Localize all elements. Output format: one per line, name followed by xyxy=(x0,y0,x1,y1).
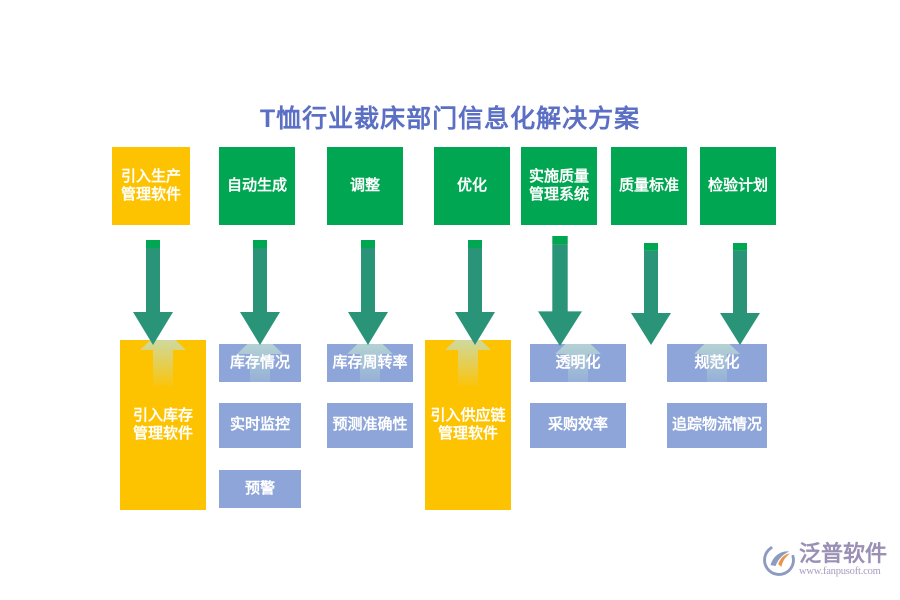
flow-arrow-down-icon-4 xyxy=(455,240,495,345)
process-box-1: 引入生产 管理软件 xyxy=(112,147,190,225)
box-label: 追踪物流情况 xyxy=(672,416,762,434)
box-label: 透明化 xyxy=(555,354,600,372)
flow-arrow-down-icon-1 xyxy=(133,240,173,345)
box-label: 规范化 xyxy=(694,354,739,372)
box-label: 检验计划 xyxy=(708,177,768,195)
outcome-box-9: 追踪物流情况 xyxy=(667,403,767,448)
software-pillar-1: 引入库存 管理软件 xyxy=(120,340,206,510)
outcome-box-5: 预测准确性 xyxy=(327,403,413,448)
flow-arrow-down-icon-5 xyxy=(538,236,582,346)
flow-arrow-down-icon-3 xyxy=(348,240,388,345)
flow-arrow-down-icon-2 xyxy=(240,240,280,345)
box-label: 自动生成 xyxy=(227,177,287,195)
software-pillar-2: 引入供应链 管理软件 xyxy=(425,340,511,510)
box-label: 引入生产 管理软件 xyxy=(121,168,181,205)
outcome-box-1: 库存情况 xyxy=(219,344,301,382)
brand-logo: 泛普软件 www.fanpusoft.com xyxy=(762,534,894,586)
box-label: 实施质量 管理系统 xyxy=(529,168,589,205)
box-label: 库存情况 xyxy=(230,354,290,372)
page-title: T恤行业裁床部门信息化解决方案 xyxy=(0,99,900,135)
box-label: 采购效率 xyxy=(548,416,608,434)
outcome-box-2: 实时监控 xyxy=(219,403,301,448)
box-label: 调整 xyxy=(350,177,380,195)
up-arrow-watermark-icon xyxy=(140,340,186,386)
box-label: 预测准确性 xyxy=(332,416,407,434)
process-box-2: 自动生成 xyxy=(219,147,295,225)
outcome-box-6: 透明化 xyxy=(530,344,626,382)
flow-arrow-down-icon-7 xyxy=(720,243,760,345)
box-label: 库存周转率 xyxy=(332,354,407,372)
box-label: 质量标准 xyxy=(619,177,679,195)
box-label: 优化 xyxy=(457,177,487,195)
fanpu-logo-icon xyxy=(762,543,796,577)
logo-company-name: 泛普软件 xyxy=(799,542,887,565)
box-label: 预警 xyxy=(245,480,275,498)
outcome-box-7: 采购效率 xyxy=(530,403,626,448)
diagram-canvas: T恤行业裁床部门信息化解决方案 引入生产 管理软件自动生成调整优化实施质量 管理… xyxy=(0,0,900,600)
up-arrow-watermark-icon xyxy=(445,340,491,386)
box-label: 引入供应链 管理软件 xyxy=(430,407,505,444)
process-box-3: 调整 xyxy=(327,147,403,225)
outcome-box-8: 规范化 xyxy=(667,344,767,382)
process-box-5: 实施质量 管理系统 xyxy=(521,147,597,225)
box-label: 实时监控 xyxy=(230,416,290,434)
process-box-7: 检验计划 xyxy=(700,147,776,225)
process-box-6: 质量标准 xyxy=(611,147,687,225)
logo-website-url: www.fanpusoft.com xyxy=(799,566,887,578)
outcome-box-3: 预警 xyxy=(219,470,301,508)
outcome-box-4: 库存周转率 xyxy=(327,344,413,382)
box-label: 引入库存 管理软件 xyxy=(133,407,193,444)
flow-arrow-down-icon-6 xyxy=(631,243,671,345)
process-box-4: 优化 xyxy=(434,147,510,225)
